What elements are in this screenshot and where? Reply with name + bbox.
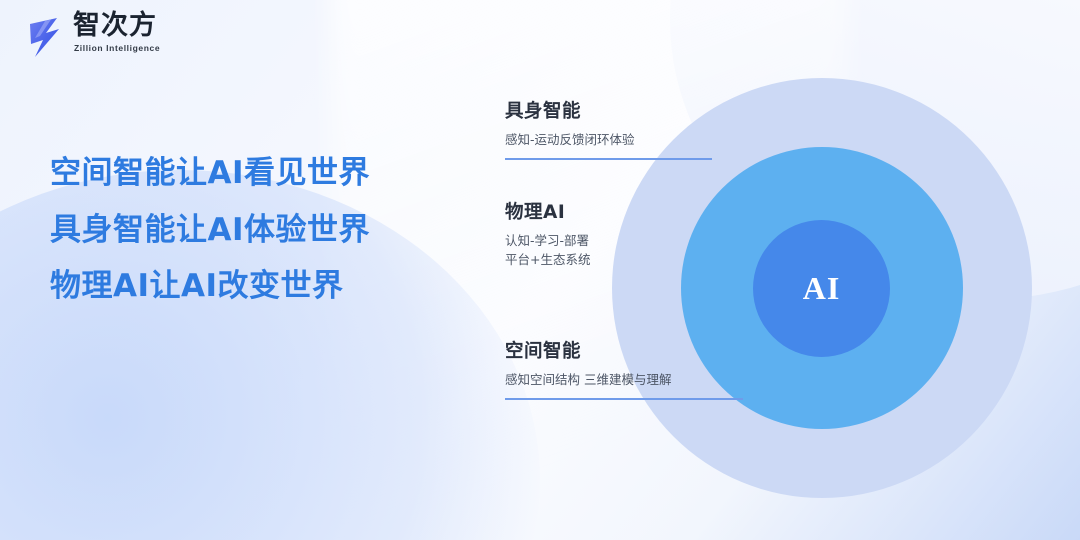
brand-name-cn: 智次方 — [73, 12, 160, 40]
annotation-title: 空间智能 — [505, 337, 743, 363]
annotation-subtitle: 感知空间结构 三维建模与理解 — [505, 370, 743, 389]
slide-canvas: 智次方 Zillion Intelligence 空间智能让AI看见世界 具身智… — [0, 0, 1080, 540]
annotation-spatial-intelligence: 空间智能 感知空间结构 三维建模与理解 — [505, 337, 743, 400]
headline-line-3: 物理AI让AI改变世界 — [50, 263, 370, 310]
annotation-rule — [505, 398, 743, 400]
annotation-title: 物理AI — [505, 198, 590, 224]
annotation-subtitle-line-2: 平台+生态系统 — [505, 250, 590, 269]
annotation-physical-ai: 物理AI 认知-学习-部署 平台+生态系统 — [505, 198, 590, 270]
annotation-embodied-intelligence: 具身智能 感知-运动反馈闭环体验 — [505, 97, 712, 160]
ring-inner-core: AI — [753, 220, 890, 357]
annotation-rule — [505, 158, 712, 160]
annotation-title: 具身智能 — [505, 97, 712, 123]
annotation-subtitle: 感知-运动反馈闭环体验 — [505, 130, 712, 149]
headline-group: 空间智能让AI看见世界 具身智能让AI体验世界 物理AI让AI改变世界 — [50, 150, 370, 310]
core-label: AI — [803, 270, 841, 307]
brand-logo: 智次方 Zillion Intelligence — [26, 12, 160, 59]
headline-line-2: 具身智能让AI体验世界 — [50, 207, 370, 254]
annotation-subtitle-line-1: 认知-学习-部署 — [505, 231, 590, 250]
zillion-z-mark-icon — [26, 15, 66, 59]
headline-line-1: 空间智能让AI看见世界 — [50, 150, 370, 197]
brand-name-en: Zillion Intelligence — [74, 43, 160, 53]
